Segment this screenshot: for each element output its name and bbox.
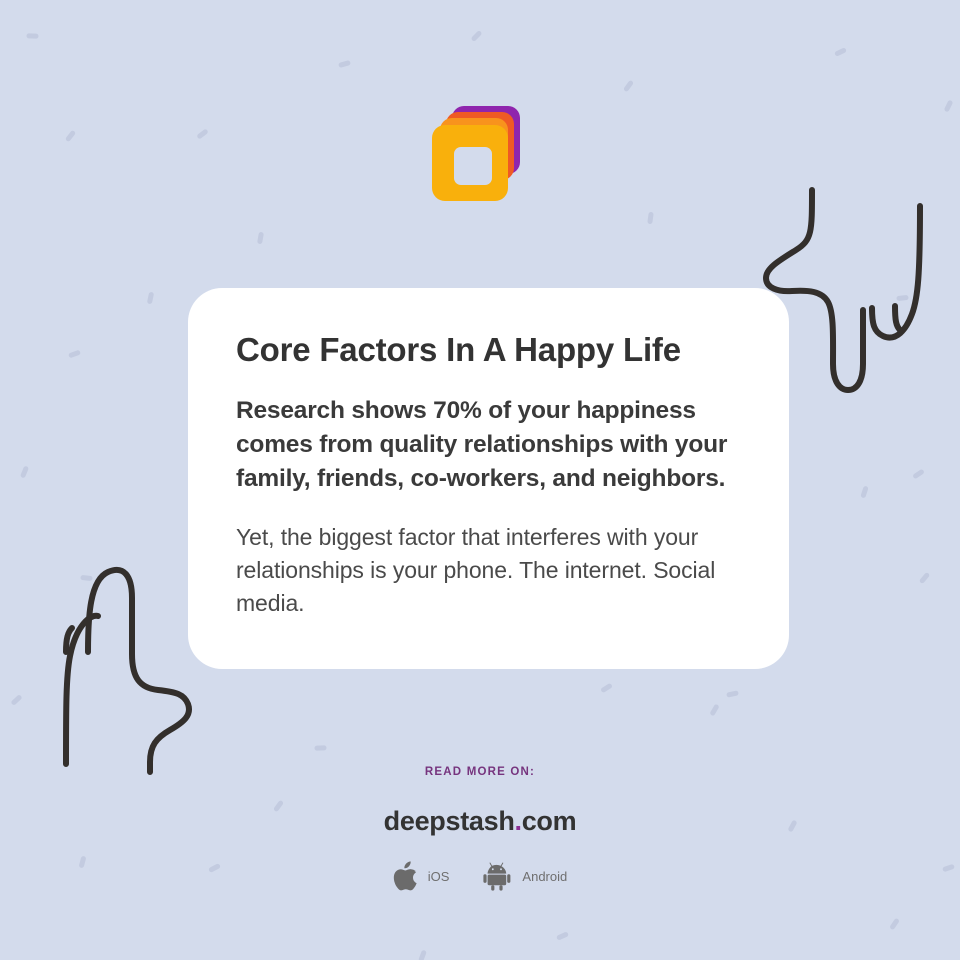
confetti-fleck: [20, 466, 29, 479]
confetti-fleck: [623, 80, 634, 93]
confetti-fleck: [912, 469, 925, 480]
brand-wordmark[interactable]: deepstash.com: [0, 806, 960, 837]
confetti-fleck: [338, 60, 351, 68]
confetti-fleck: [709, 704, 719, 717]
deepstash-logo: [428, 98, 520, 203]
store-badge-ios[interactable]: iOS: [393, 861, 450, 891]
confetti-fleck: [68, 350, 81, 359]
confetti-fleck: [556, 931, 569, 940]
apple-icon: [393, 861, 419, 891]
logo-cube-cutout: [454, 147, 492, 185]
content-card: Core Factors In A Happy Life Research sh…: [188, 288, 789, 669]
confetti-fleck: [196, 128, 209, 139]
confetti-fleck: [647, 212, 654, 225]
brand-name: deepstash: [384, 806, 515, 836]
card-body-paragraph: Yet, the biggest factor that interferes …: [236, 521, 741, 621]
footer: READ MORE ON: deepstash.com iOS: [0, 766, 960, 891]
confetti-fleck: [944, 100, 954, 113]
confetti-fleck: [418, 950, 427, 960]
confetti-fleck: [919, 572, 931, 584]
poster-canvas: Core Factors In A Happy Life Research sh…: [0, 0, 960, 960]
card-lead-paragraph: Research shows 70% of your happiness com…: [236, 394, 741, 495]
store-label-android: Android: [522, 869, 567, 884]
confetti-fleck: [471, 30, 483, 42]
confetti-fleck: [860, 486, 868, 499]
confetti-fleck: [10, 694, 22, 706]
store-badges: iOS Android: [0, 861, 960, 891]
confetti-fleck: [600, 683, 613, 694]
confetti-fleck: [65, 130, 76, 143]
confetti-fleck: [834, 47, 847, 57]
brand-dot: .: [515, 806, 522, 836]
brand-tld: com: [522, 806, 577, 836]
confetti-fleck: [26, 33, 38, 38]
confetti-fleck: [314, 745, 326, 750]
card-title: Core Factors In A Happy Life: [236, 332, 741, 368]
confetti-fleck: [889, 918, 900, 931]
store-label-ios: iOS: [428, 869, 450, 884]
android-icon: [483, 861, 513, 891]
read-more-label: READ MORE ON:: [0, 766, 960, 778]
confetti-fleck: [726, 690, 739, 697]
confetti-fleck: [147, 292, 154, 305]
confetti-fleck: [257, 232, 264, 245]
store-badge-android[interactable]: Android: [483, 861, 567, 891]
